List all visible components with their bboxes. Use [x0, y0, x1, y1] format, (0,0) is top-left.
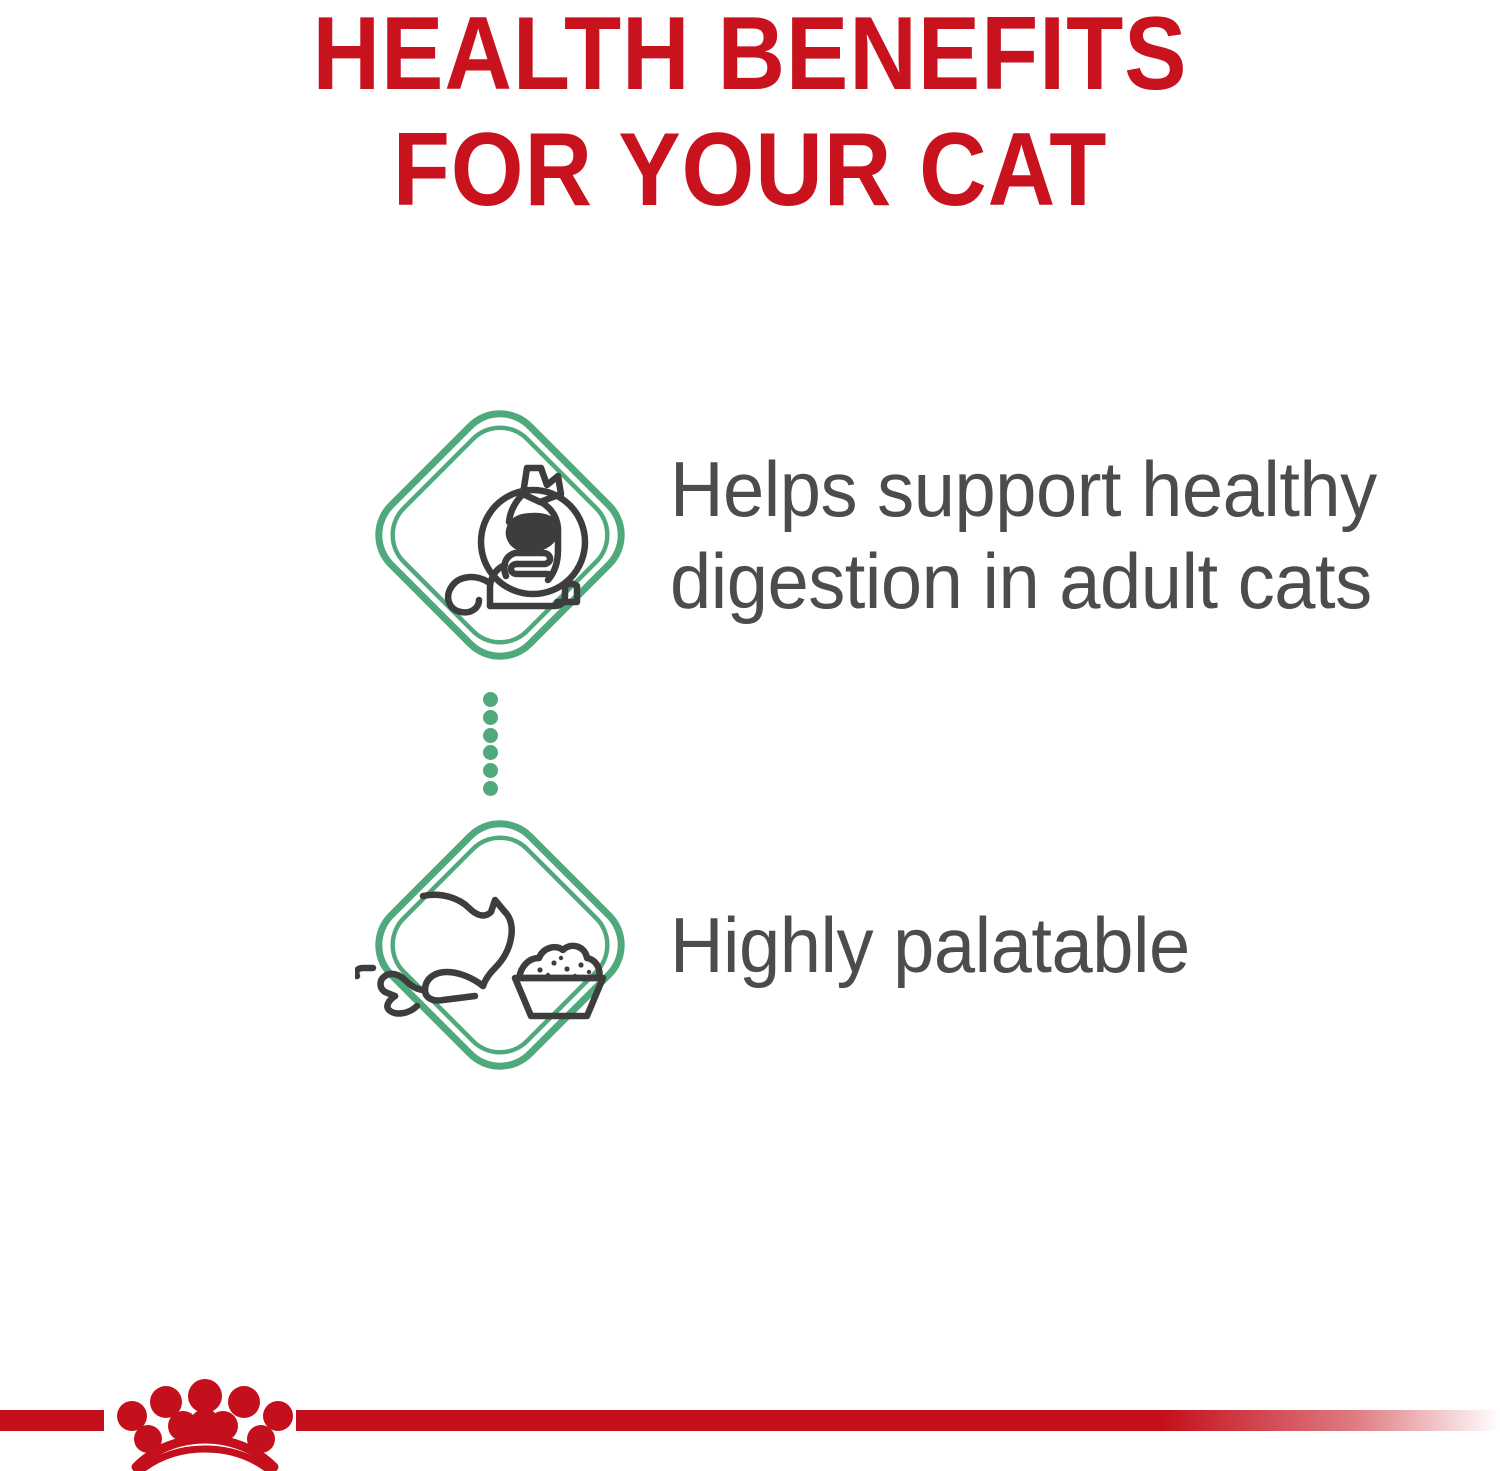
page-title-line-1: HEALTH BENEFITS	[75, 2, 1425, 106]
benefits-list: Helps support healthy digestion in adult…	[0, 385, 1500, 1095]
dotted-connector	[479, 692, 501, 796]
connector-dot	[483, 763, 498, 778]
footer-rule-left	[0, 1410, 104, 1431]
page-title: HEALTH BENEFITS FOR YOUR CAT	[0, 2, 1500, 222]
benefit-item-digestion: Helps support healthy digestion in adult…	[0, 385, 1500, 685]
diamond-frame	[355, 800, 645, 1090]
connector-dot	[483, 745, 498, 760]
page-title-line-2: FOR YOUR CAT	[75, 118, 1425, 222]
connector-dot	[483, 692, 498, 707]
connector-dot	[483, 781, 498, 796]
stomach-glyph	[508, 515, 556, 550]
diamond-frame	[355, 390, 645, 680]
cat-digestion-icon	[340, 385, 660, 685]
cat-eating-bowl-icon	[340, 795, 660, 1095]
footer-rule-right	[296, 1410, 1500, 1431]
royal-canin-crown-logo	[110, 1371, 300, 1471]
benefit-label-digestion: Helps support healthy digestion in adult…	[670, 443, 1421, 627]
connector-dot	[483, 710, 498, 725]
benefit-label-palatability: Highly palatable	[670, 899, 1190, 991]
footer	[0, 1370, 1500, 1471]
benefit-item-palatability: Highly palatable	[0, 795, 1500, 1095]
connector-dot	[483, 728, 498, 743]
